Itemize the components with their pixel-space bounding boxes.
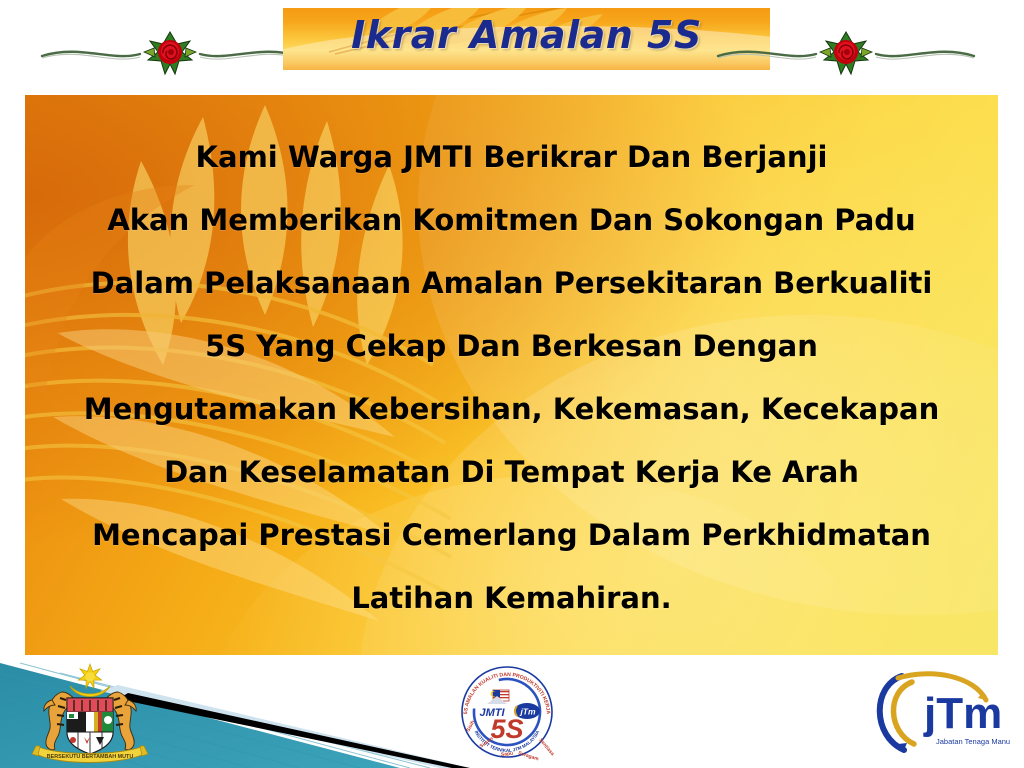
pledge-panel: Kami Warga JMTI Berikrar Dan Berjanji Ak…	[25, 95, 998, 655]
pledge-line: Dan Keselamatan Di Tempat Kerja Ke Arah	[47, 458, 976, 487]
jtm-wordmark: jTm	[923, 689, 1002, 738]
pledge-line: Latihan Kemahiran.	[47, 584, 976, 613]
rose-ornament-left	[40, 22, 300, 78]
page-title: Ikrar Amalan 5S	[283, 13, 770, 57]
pledge-line: Mencapai Prestasi Cemerlang Dalam Perkhi…	[47, 521, 976, 550]
jtm-subtitle: Jabatan Tenaga Manusia	[936, 737, 1010, 746]
pledge-line: Akan Memberikan Komitmen Dan Sokongan Pa…	[47, 206, 976, 235]
rose-vine-icon	[40, 22, 300, 78]
pledge-line: Mengutamakan Kebersihan, Kekemasan, Kece…	[47, 395, 976, 424]
pledge-line: Dalam Pelaksanaan Amalan Persekitaran Be…	[47, 269, 976, 298]
slide-canvas: Ikrar Amalan 5S	[0, 0, 1024, 768]
rose-ornament-right	[716, 22, 976, 78]
svg-text:Sentiasa: Sentiasa	[537, 737, 555, 757]
logo-5s-center-text: 5S	[490, 714, 523, 744]
svg-text:BERSEKUTU BERTAMBAH MUTU: BERSEKUTU BERTAMBAH MUTU	[47, 754, 134, 760]
pledge-line: Kami Warga JMTI Berikrar Dan Berjanji	[47, 143, 976, 172]
svg-text:Sapu: Sapu	[501, 751, 514, 758]
title-bar: Ikrar Amalan 5S	[0, 0, 1024, 92]
malaysian-coat-of-arms-icon: BERSEKUTU BERTAMBAH MUTU	[22, 658, 158, 766]
rose-vine-icon	[716, 22, 976, 78]
jtm-logo-icon: jTm Jabatan Tenaga Manusia	[862, 670, 1010, 756]
pledge-line: 5S Yang Cekap Dan Berkesan Dengan	[47, 332, 976, 361]
footer-bar: BERSEKUTU BERTAMBAH MUTU 5S AMALAN KUALI…	[0, 655, 1024, 768]
jmti-5s-logo-icon: 5S AMALAN KUALITI DAN PRODUKTIVITI KERJA…	[455, 660, 559, 764]
pledge-text-block: Kami Warga JMTI Berikrar Dan Berjanji Ak…	[25, 95, 998, 613]
title-banner: Ikrar Amalan 5S	[283, 8, 770, 70]
